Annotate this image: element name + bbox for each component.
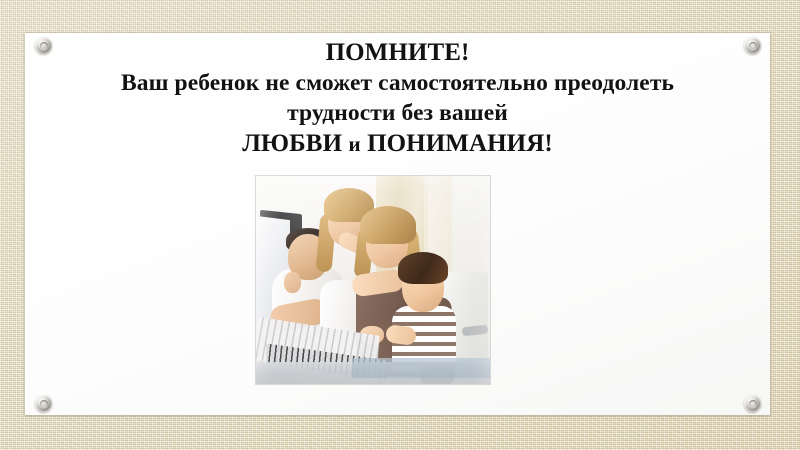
screw-bottom-left-icon bbox=[35, 395, 52, 412]
headline-line-4: ЛЮБВИ и ПОНИМАНИЯ! bbox=[25, 128, 770, 160]
headline-line-4-love: ЛЮБВИ bbox=[242, 130, 342, 157]
headline-line-1: ПОМНИТЕ! bbox=[25, 33, 770, 68]
slide-canvas: ПОМНИТЕ! Ваш ребенок не сможет самостоят… bbox=[0, 0, 800, 450]
headline-line-2: Ваш ребенок не сможет самостоятельно пре… bbox=[25, 68, 770, 98]
headline-block: ПОМНИТЕ! Ваш ребенок не сможет самостоят… bbox=[25, 33, 770, 160]
headline-line-4-understanding: ПОНИМАНИЯ! bbox=[367, 130, 553, 157]
headline-line-4-conjunction: и bbox=[349, 132, 361, 156]
family-photo bbox=[256, 176, 490, 384]
screw-bottom-right-icon bbox=[744, 395, 761, 412]
photo-softfocus-overlay bbox=[256, 176, 490, 384]
headline-line-3: трудности без вашей bbox=[25, 98, 770, 128]
